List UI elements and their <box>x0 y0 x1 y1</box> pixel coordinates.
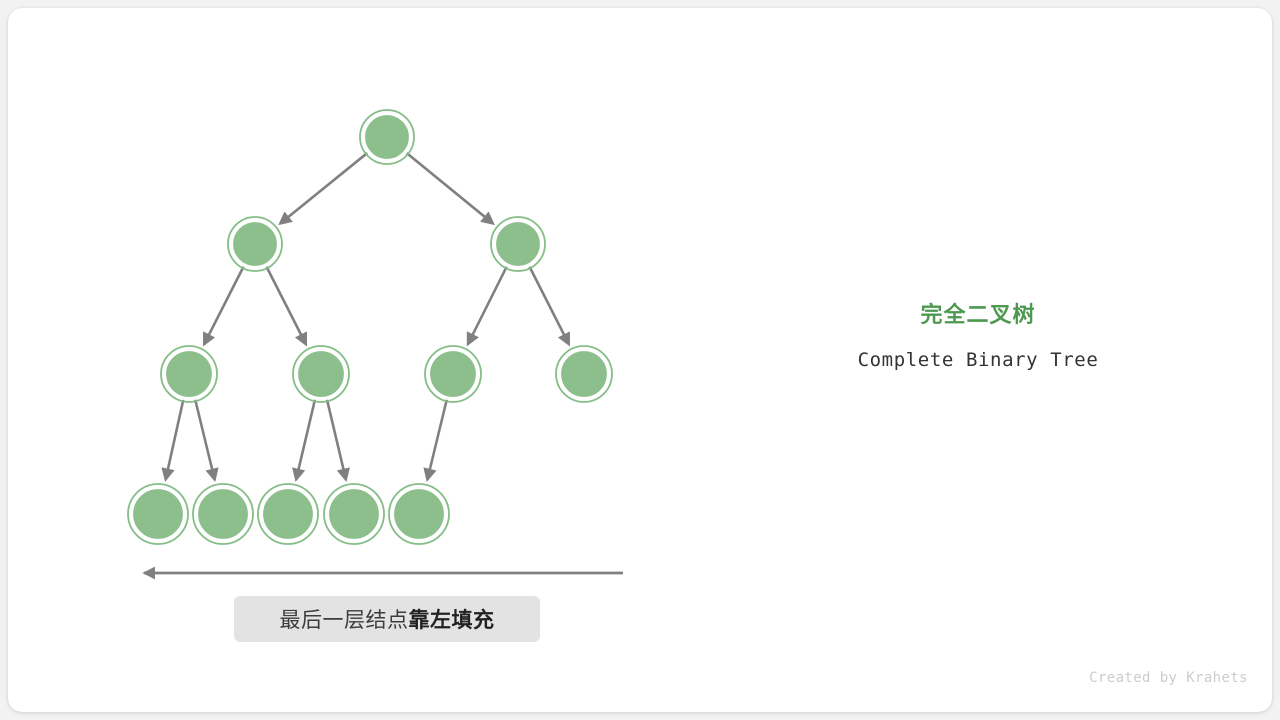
tree-edges-layer <box>166 153 569 479</box>
tree-node <box>161 346 217 402</box>
tree-node-body <box>364 114 410 160</box>
page-title-zh: 完全二叉树 <box>768 300 1188 330</box>
tree-node <box>556 346 612 402</box>
tree-node <box>193 484 253 544</box>
tree-edge <box>407 153 493 223</box>
tree-edge <box>468 267 507 344</box>
tree-node <box>324 484 384 544</box>
caption-prefix: 最后一层结点 <box>280 609 409 632</box>
tree-node <box>360 110 414 164</box>
tree-node <box>128 484 188 544</box>
tree-edge <box>204 267 243 344</box>
tree-node <box>425 346 481 402</box>
tree-node-body <box>393 488 445 540</box>
tree-node-body <box>232 221 278 267</box>
tree-node-body <box>197 488 249 540</box>
caption-emphasis: 靠左填充 <box>409 609 495 632</box>
title-block: 完全二叉树 Complete Binary Tree <box>768 300 1188 372</box>
tree-edge <box>427 400 446 480</box>
tree-node-body <box>165 350 213 398</box>
tree-node <box>293 346 349 402</box>
credit-text: Created by Krahets <box>1089 670 1248 686</box>
tree-node-body <box>297 350 345 398</box>
tree-node-body <box>262 488 314 540</box>
tree-edge <box>327 400 346 480</box>
tree-node <box>228 217 282 271</box>
page-title-en: Complete Binary Tree <box>768 348 1188 372</box>
tree-node-body <box>495 221 541 267</box>
caption-badge: 最后一层结点靠左填充 <box>234 596 540 642</box>
tree-node-body <box>560 350 608 398</box>
tree-node-body <box>328 488 380 540</box>
tree-edge <box>195 400 214 480</box>
tree-node <box>491 217 545 271</box>
tree-edge <box>296 400 315 480</box>
tree-nodes-layer <box>128 110 612 544</box>
tree-node <box>258 484 318 544</box>
tree-node-body <box>132 488 184 540</box>
tree-edge <box>280 153 367 223</box>
tree-edge <box>166 400 184 479</box>
diagram-card: 完全二叉树 Complete Binary Tree 最后一层结点靠左填充 Cr… <box>8 8 1272 712</box>
screenshot-stage: 完全二叉树 Complete Binary Tree 最后一层结点靠左填充 Cr… <box>0 0 1280 720</box>
tree-node <box>389 484 449 544</box>
tree-node-body <box>429 350 477 398</box>
tree-edge <box>267 267 306 344</box>
tree-edge <box>530 267 569 344</box>
caption-text: 最后一层结点靠左填充 <box>280 604 495 634</box>
